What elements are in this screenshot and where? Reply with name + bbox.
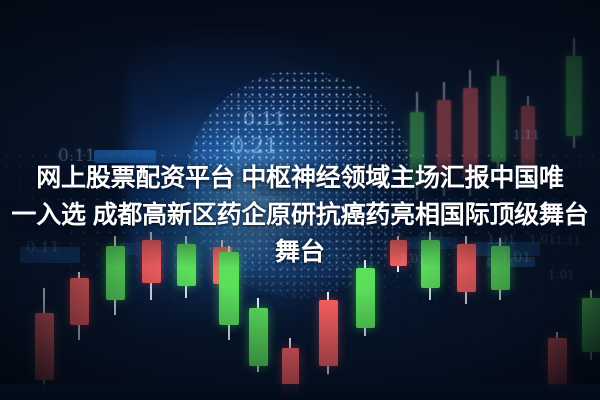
- headline: 网上股票配资平台 中枢神经领域主场汇报中国唯 一入选 成都高新区药企原研抗癌药亮…: [0, 160, 600, 271]
- headline-line-2: 一入选 成都高新区药企原研抗癌药亮相国际顶级舞台: [2, 197, 598, 234]
- headline-line-3: 舞台: [2, 234, 598, 271]
- banner-image: 0.110.110.211.010.111.111.011.011.111.01…: [0, 0, 600, 400]
- headline-line-1: 网上股票配资平台 中枢神经领域主场汇报中国唯: [2, 160, 598, 197]
- bottom-border-band: [0, 384, 600, 400]
